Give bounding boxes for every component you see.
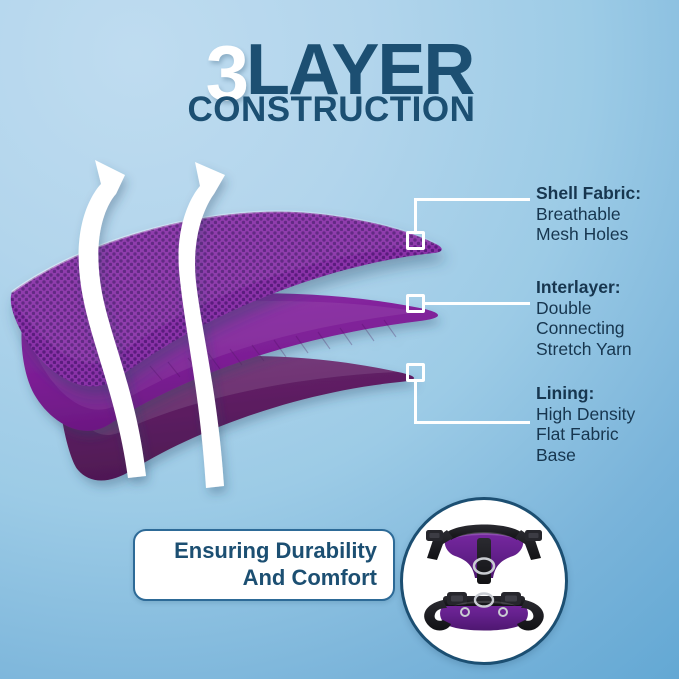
tagline-line-1: Ensuring Durability [174, 538, 377, 565]
callout-lining-line-2: Flat Fabric [536, 424, 635, 445]
callout-interlayer: Interlayer: Double Connecting Stretch Ya… [536, 277, 632, 360]
leader-line-lining-horizontal [414, 421, 530, 424]
leader-line-interlayer [424, 302, 530, 305]
callout-shell-fabric: Shell Fabric: Breathable Mesh Holes [536, 183, 641, 245]
page-title: 3LAYER CONSTRUCTION [0, 34, 679, 112]
tagline-banner: Ensuring Durability And Comfort [133, 529, 395, 601]
callout-interlayer-line-2: Connecting [536, 318, 632, 339]
callout-shell-title: Shell Fabric: [536, 183, 641, 204]
callout-interlayer-line-1: Double [536, 298, 632, 319]
marker-shell [406, 231, 425, 250]
callout-lining: Lining: High Density Flat Fabric Base [536, 383, 635, 466]
title-subtitle: CONSTRUCTION [187, 92, 475, 127]
marker-interlayer [406, 294, 425, 313]
leader-line-lining-vertical [414, 381, 417, 424]
callout-shell-line-2: Mesh Holes [536, 224, 641, 245]
callout-lining-title: Lining: [536, 383, 635, 404]
tagline-line-2: And Comfort [174, 565, 377, 592]
callout-lining-line-1: High Density [536, 404, 635, 425]
leader-line-shell-horizontal [414, 198, 530, 201]
infographic-canvas: 3LAYER CONSTRUCTION [0, 0, 679, 679]
fabric-layers-illustration [0, 140, 500, 510]
callout-lining-line-3: Base [536, 445, 635, 466]
product-photo-circle [400, 497, 568, 665]
dog-harness-illustration [403, 500, 565, 662]
callout-shell-line-1: Breathable [536, 204, 641, 225]
tagline-text: Ensuring Durability And Comfort [174, 538, 377, 592]
leader-line-shell-vertical [414, 198, 417, 234]
callout-interlayer-line-3: Stretch Yarn [536, 339, 632, 360]
callout-interlayer-title: Interlayer: [536, 277, 632, 298]
marker-lining [406, 363, 425, 382]
